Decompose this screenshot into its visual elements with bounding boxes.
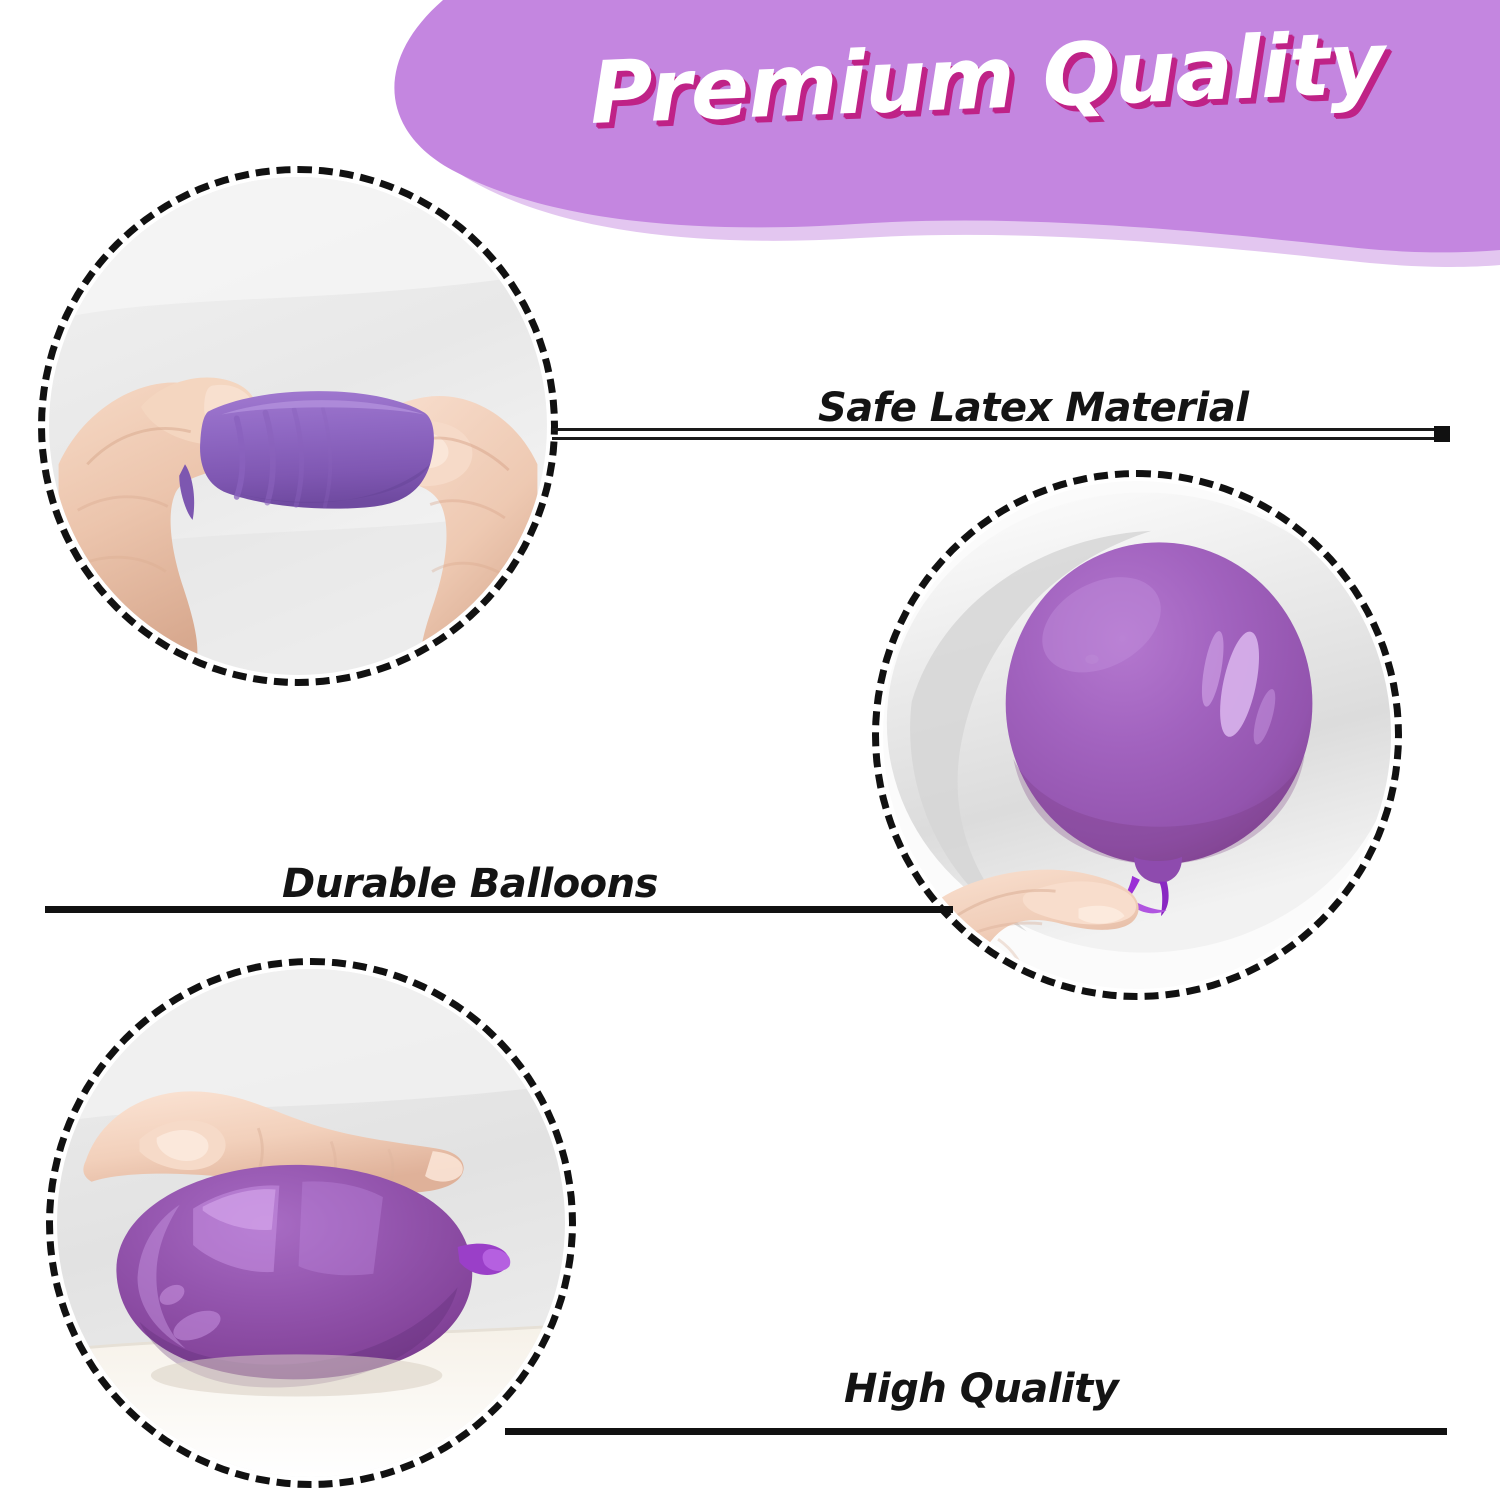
photo-inner-squash xyxy=(57,969,565,1477)
feature-rule-durable-balloons xyxy=(45,906,953,913)
infographic-canvas: Premium Quality xyxy=(0,0,1500,1500)
photo-hands-stretching-balloon xyxy=(38,166,558,686)
photo-inner-stretch xyxy=(49,177,547,675)
feature-label-durable-balloons: Durable Balloons xyxy=(282,861,658,907)
page-title: Premium Quality xyxy=(588,5,1492,149)
photo-hand-holding-inflated-balloon xyxy=(872,470,1402,1000)
feature-label-safe-latex-material: Safe Latex Material xyxy=(818,385,1248,431)
feature-rule-safe-latex-material xyxy=(552,428,1450,440)
photo-hand-pressing-balloon xyxy=(46,958,576,1488)
feature-label-high-quality: High Quality xyxy=(844,1366,1118,1412)
feature-rule-endcap-safe-latex-material xyxy=(1434,426,1450,442)
photo-inner-inflated xyxy=(883,481,1391,989)
feature-rule-high-quality xyxy=(505,1428,1447,1435)
